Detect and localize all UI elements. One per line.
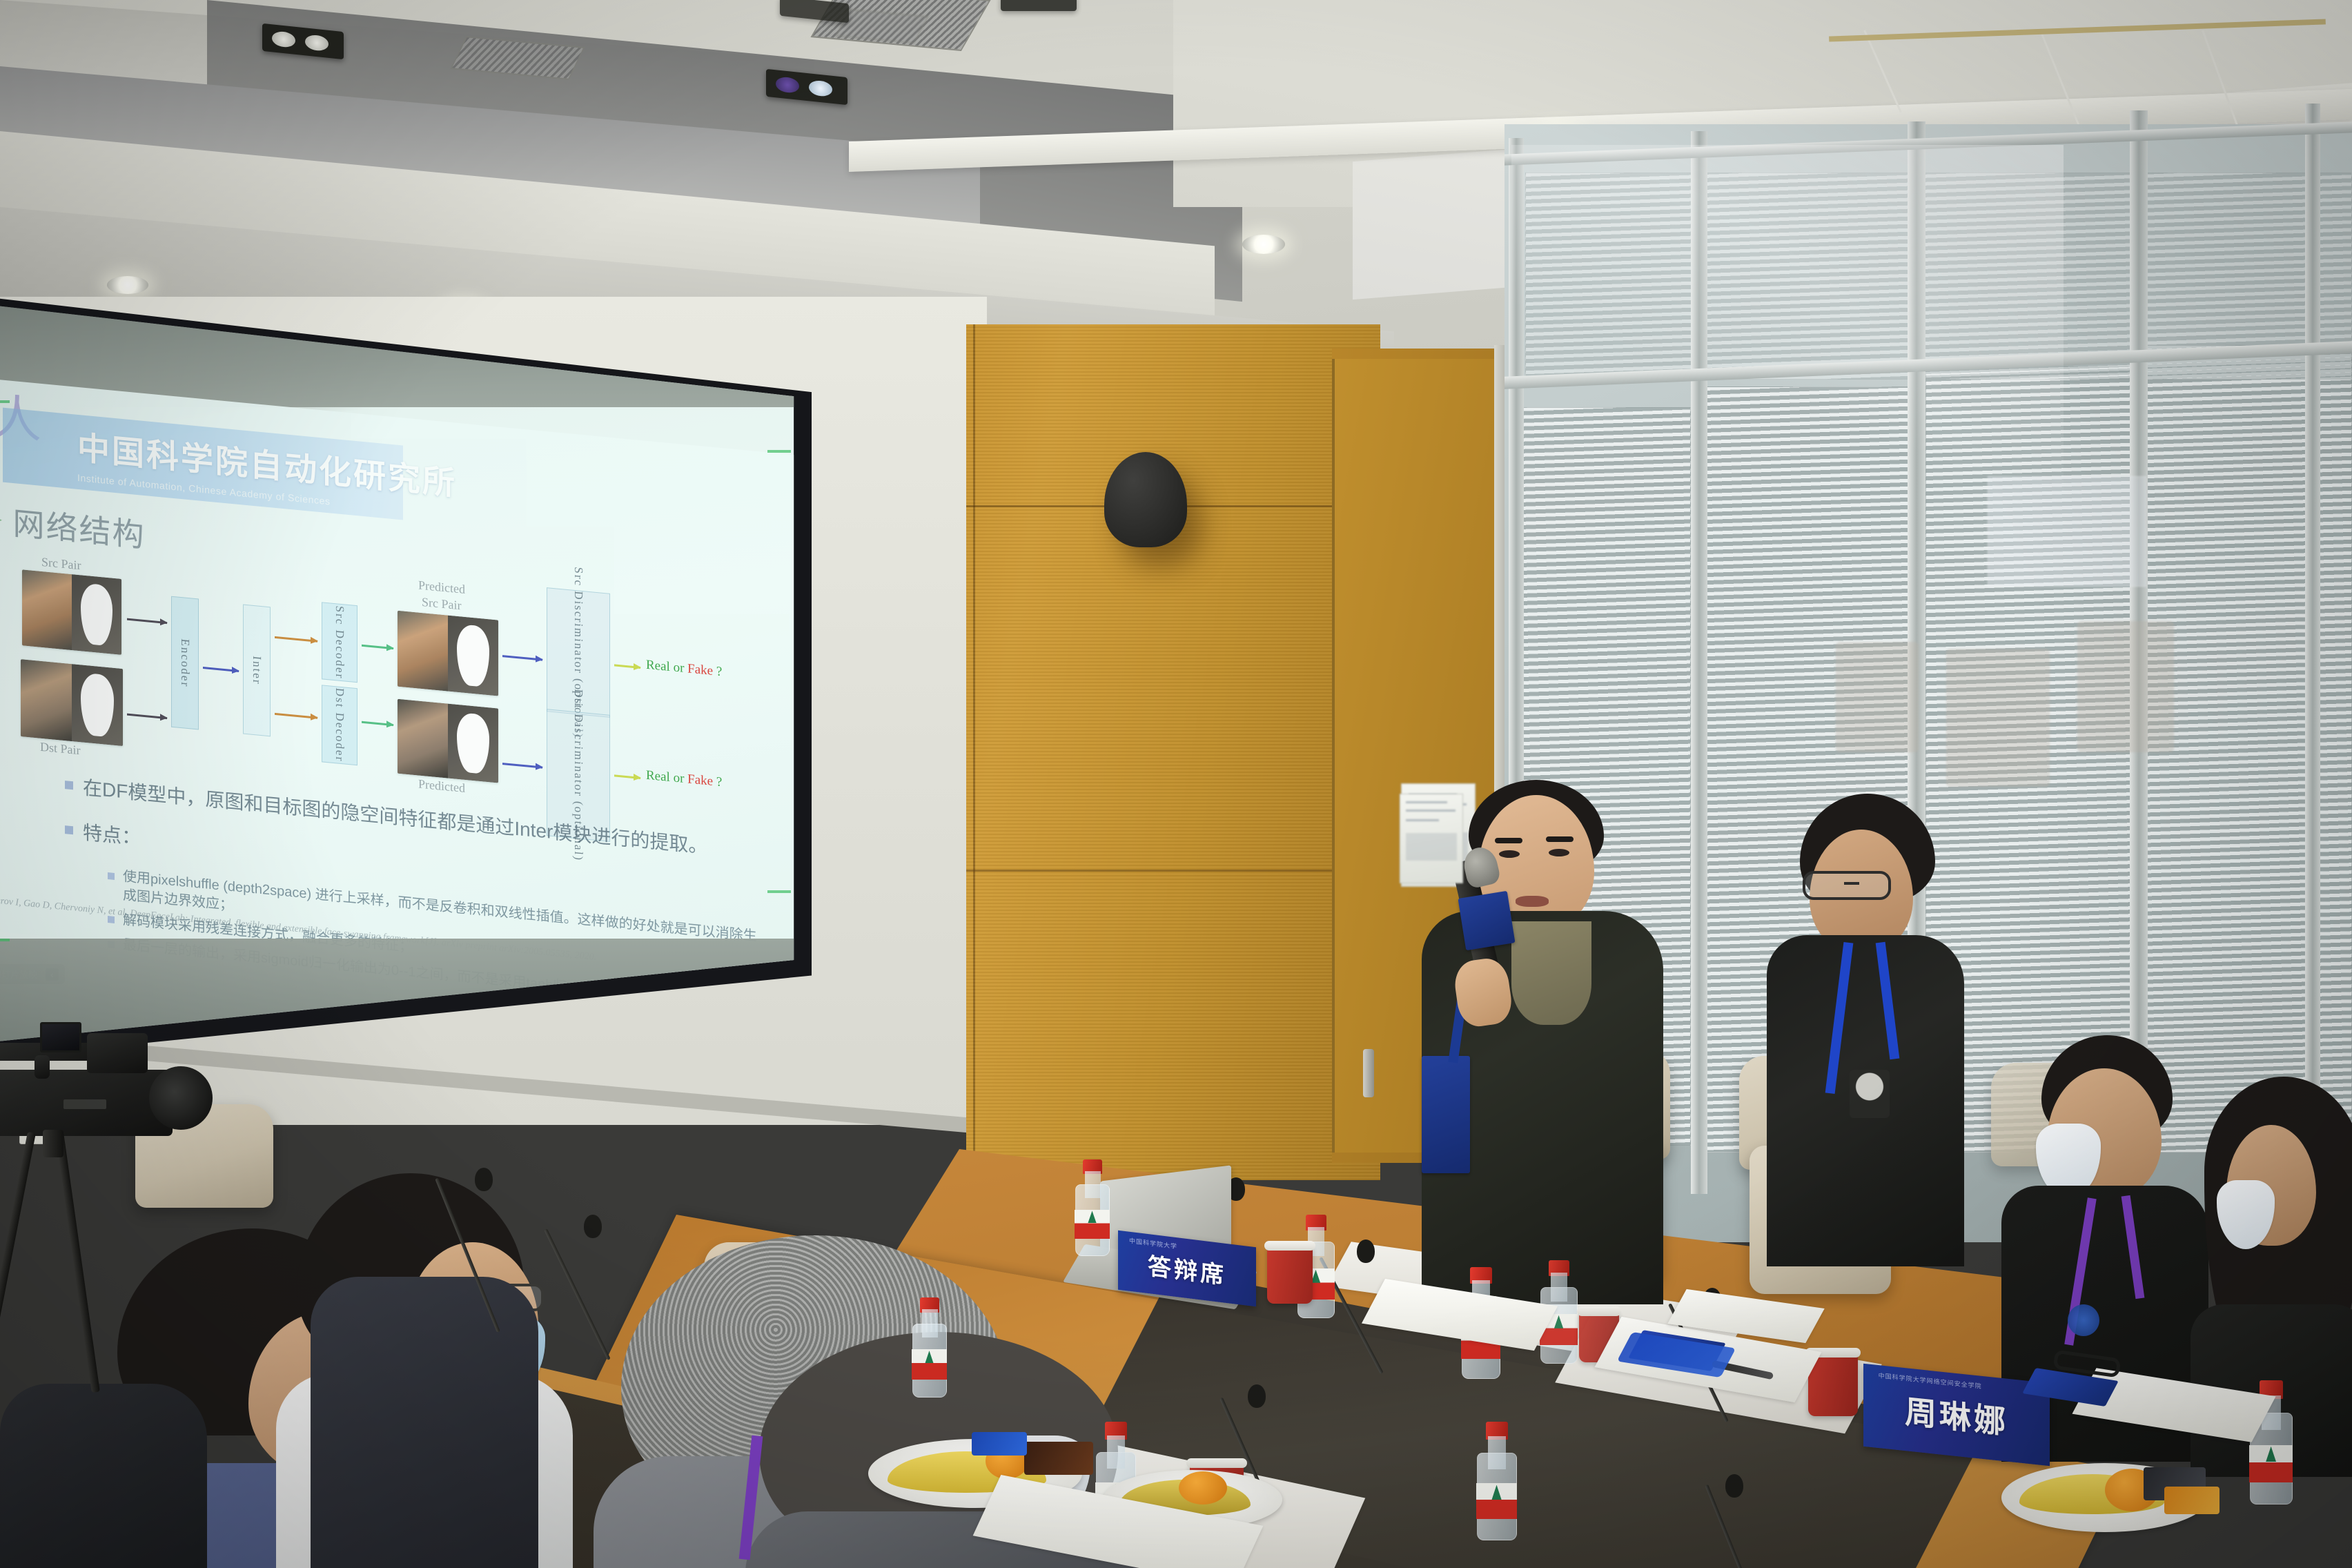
bottle-label <box>1476 1483 1517 1519</box>
qmark-text: ? <box>713 774 722 790</box>
glass-glare <box>1511 145 2064 504</box>
screen-corner-marker <box>767 890 791 893</box>
tripod-leg <box>0 1132 36 1404</box>
predicted-dst-thumbnail <box>398 699 498 783</box>
arrow-src-disc-out <box>614 664 640 669</box>
predicted-src-label-1: Predicted <box>418 578 465 597</box>
window-mullion <box>2305 104 2320 1139</box>
recessed-downlight <box>1242 235 1285 254</box>
eyebrow <box>1495 838 1522 843</box>
src-decoder-label: Src Decoder <box>333 605 346 680</box>
microphone-head-icon <box>475 1168 493 1191</box>
encoder-label: Encoder <box>178 638 192 688</box>
microphone-head-icon <box>1725 1474 1743 1498</box>
video-camera-rig <box>0 1004 228 1211</box>
audience-far-left-dark <box>0 1370 207 1568</box>
conference-room-photo: 腾讯会议 录制中 人 中国科学院自动化研究所 Institute of Auto… <box>0 0 2352 1568</box>
slide-title-row: ➤ 网络结构 <box>0 496 146 556</box>
predicted-src-thumbnail <box>398 611 498 696</box>
microphone-head-icon <box>1248 1384 1266 1408</box>
shirt-graphic <box>1850 1070 1890 1118</box>
torso <box>311 1277 538 1568</box>
arrow-src-to-discriminator <box>502 655 542 660</box>
tencent-meeting-status-bar: 腾讯会议 录制中 <box>668 311 787 333</box>
water-bottle[interactable] <box>912 1297 947 1398</box>
nongfu-logo-icon <box>2266 1447 2276 1462</box>
water-bottle[interactable] <box>1075 1159 1110 1256</box>
placard-text: 周琳娜 <box>1905 1386 2008 1443</box>
bottle-label <box>912 1349 947 1380</box>
camera-brand-plate <box>63 1099 106 1109</box>
mouth <box>1516 896 1549 907</box>
snack-package <box>2164 1487 2219 1514</box>
face-photo <box>398 611 448 692</box>
presenter-second <box>1767 794 1967 1263</box>
face-mask-photo <box>448 616 498 696</box>
face-mask-photo <box>72 664 123 746</box>
dst-pair-thumbnail <box>21 659 123 746</box>
glasses-icon <box>1803 871 1891 900</box>
presentation-slide: 人 中国科学院自动化研究所 Institute of Automation, C… <box>0 378 802 1008</box>
purple-lanyard <box>739 1435 763 1560</box>
eye <box>1549 849 1569 856</box>
signal-bars-icon <box>668 313 677 322</box>
presenter-badge <box>1422 1056 1470 1173</box>
microphone-flag-badge <box>1458 891 1515 950</box>
dst-decoder-block: Dst Decoder <box>322 685 357 765</box>
face-mask-photo <box>72 574 121 655</box>
torso <box>0 1384 207 1568</box>
window-blinds <box>2146 345 2352 1153</box>
wood-panel-wall <box>966 324 1380 1180</box>
paper-cup[interactable] <box>1267 1246 1313 1304</box>
camera-handle-post <box>35 1055 50 1079</box>
ceiling-panel-dark <box>1001 0 1077 11</box>
face-photo <box>398 699 448 778</box>
src-output-label: Real or Fake ? <box>646 658 722 680</box>
fake-text: Fake <box>687 772 713 788</box>
record-dot-icon <box>743 320 750 327</box>
chest-emblem <box>2068 1304 2099 1336</box>
inter-block: Inter <box>243 605 271 737</box>
panel-seam <box>966 870 1380 872</box>
arrow-src-decoder-out <box>362 645 393 649</box>
arrow-dst-decoder-out <box>362 721 393 726</box>
fruit-plate <box>2001 1463 2208 1532</box>
face-photo <box>22 569 72 650</box>
arrow-src-to-encoder <box>127 618 167 624</box>
projection-screen: 腾讯会议 录制中 人 中国科学院自动化研究所 Institute of Auto… <box>0 297 839 1070</box>
bottle-label <box>1075 1210 1110 1239</box>
microphone-head-icon <box>1357 1239 1375 1263</box>
floorplan-poster <box>1400 794 1463 883</box>
water-bottle[interactable] <box>1477 1422 1517 1540</box>
panel-seam <box>973 324 975 1180</box>
arrow-dst-disc-out <box>614 774 640 779</box>
eye <box>1499 850 1520 858</box>
snack-package <box>972 1432 1027 1456</box>
face-mask-photo <box>448 704 498 783</box>
glasses-bridge <box>1844 882 1859 885</box>
screen-corner-marker <box>767 450 791 453</box>
arrow-inter-to-dst-decoder <box>275 713 317 719</box>
title-arrow-icon: ➤ <box>0 504 3 534</box>
placard-org-line: 中国科学院大学网络空间安全学院 <box>1879 1371 1982 1391</box>
predicted-dst-label-1: Predicted <box>418 777 465 796</box>
predicted-src-label-2: Src Pair <box>422 595 462 613</box>
camera-lcd-screen <box>40 1022 81 1052</box>
orange-peel <box>1179 1471 1227 1505</box>
glass-reflection-figure <box>2077 621 2174 752</box>
arrow-inter-to-src-decoder <box>275 636 317 643</box>
src-decoder-block: Src Decoder <box>322 602 357 683</box>
bottle-label <box>2249 1445 2293 1482</box>
audience-left-dark-coat <box>311 1277 538 1568</box>
screen-corner-marker <box>0 400 10 403</box>
microphone-head-icon <box>584 1215 602 1238</box>
camera-mic-mount <box>87 1033 148 1073</box>
arrow-dst-to-encoder <box>127 714 167 719</box>
arrow-encoder-to-inter <box>203 667 239 672</box>
green-status-dot <box>683 315 691 324</box>
screen-corner-marker <box>0 939 10 941</box>
fake-text: Fake <box>687 661 713 678</box>
placard-text: 答辩席 <box>1148 1247 1226 1291</box>
glass-reflection-figure <box>1836 642 1919 752</box>
real-text: Real or <box>646 658 687 676</box>
nongfu-logo-icon <box>1554 1315 1563 1329</box>
glass-reflection-figure <box>1946 649 2050 787</box>
inter-label: Inter <box>250 655 264 685</box>
meeting-app-label: 腾讯会议 <box>696 313 738 330</box>
src-pair-thumbnail <box>22 569 121 655</box>
recording-label: 录制中 <box>756 317 787 333</box>
bullet-text: 特点： <box>83 819 141 852</box>
slide-title: 网络结构 <box>13 498 146 556</box>
shirt-collar <box>1511 921 1591 1025</box>
recessed-downlight <box>107 276 148 294</box>
src-pair-label: Src Pair <box>41 555 81 573</box>
snack-package <box>1024 1442 1093 1475</box>
nongfu-logo-icon <box>925 1351 933 1363</box>
dst-pair-label: Dst Pair <box>40 740 81 758</box>
dst-output-label: Real or Fake ? <box>646 768 722 790</box>
eyebrow <box>1546 836 1574 842</box>
door-handle[interactable] <box>1363 1049 1374 1097</box>
nongfu-logo-icon <box>1088 1211 1096 1223</box>
arrow-dst-to-discriminator <box>502 763 542 768</box>
tripod-head <box>43 1130 63 1157</box>
real-text: Real or <box>646 768 687 787</box>
audience-purple-lanyard <box>697 1422 876 1568</box>
tripod-leg <box>55 1132 100 1393</box>
bullet-marker <box>65 825 73 834</box>
screen-surface: 腾讯会议 录制中 人 中国科学院自动化研究所 Institute of Auto… <box>0 297 802 1050</box>
bullet-marker <box>108 872 115 880</box>
camera-lens <box>149 1066 213 1130</box>
bullet-marker <box>65 781 73 790</box>
qmark-text: ? <box>713 664 722 679</box>
encoder-block: Encoder <box>171 596 199 730</box>
nongfu-logo-icon <box>1491 1485 1501 1500</box>
dst-decoder-label: Dst Decoder <box>333 687 346 763</box>
face-photo <box>21 659 72 741</box>
